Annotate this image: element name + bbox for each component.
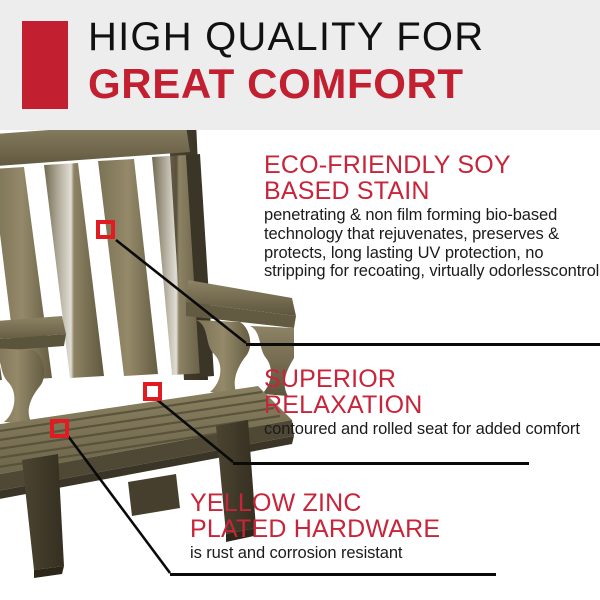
header-banner: HIGH QUALITY FOR GREAT COMFORT (0, 0, 600, 130)
callout-hardware-body: is rust and corrosion resistant (190, 544, 600, 563)
page-title-line2: GREAT COMFORT (88, 60, 588, 108)
page-title-line1: HIGH QUALITY FOR (88, 14, 588, 60)
divider-rule-stain (246, 343, 600, 346)
callout-marker-stain-icon[interactable] (96, 220, 115, 239)
divider-rule-hardware (170, 573, 496, 576)
callout-relaxation: SUPERIOR RELAXATION contoured and rolled… (264, 366, 600, 439)
callout-stain-heading-line2: BASED STAIN (264, 178, 600, 204)
callout-marker-hardware-icon[interactable] (50, 419, 69, 438)
callout-hardware: YELLOW ZINC PLATED HARDWARE is rust and … (190, 490, 600, 563)
callout-relaxation-body: contoured and rolled seat for added comf… (264, 420, 600, 439)
header-accent-bar (22, 21, 68, 109)
chair-arm-left (0, 316, 66, 424)
callout-hardware-heading-line1: YELLOW ZINC (190, 490, 600, 516)
divider-rule-relaxation (233, 462, 529, 465)
callout-relaxation-heading-line2: RELAXATION (264, 392, 600, 418)
callout-relaxation-heading-line1: SUPERIOR (264, 366, 600, 392)
header-title-group: HIGH QUALITY FOR GREAT COMFORT (88, 14, 588, 108)
callout-stain-heading-line1: ECO-FRIENDLY SOY (264, 152, 600, 178)
callout-stain: ECO-FRIENDLY SOY BASED STAIN penetrating… (264, 152, 600, 281)
callout-hardware-heading-line2: PLATED HARDWARE (190, 516, 600, 542)
callout-stain-body: penetrating & non film forming bio-based… (264, 206, 600, 281)
infographic-page: HIGH QUALITY FOR GREAT COMFORT (0, 0, 600, 600)
callout-marker-seat-icon[interactable] (143, 382, 162, 401)
